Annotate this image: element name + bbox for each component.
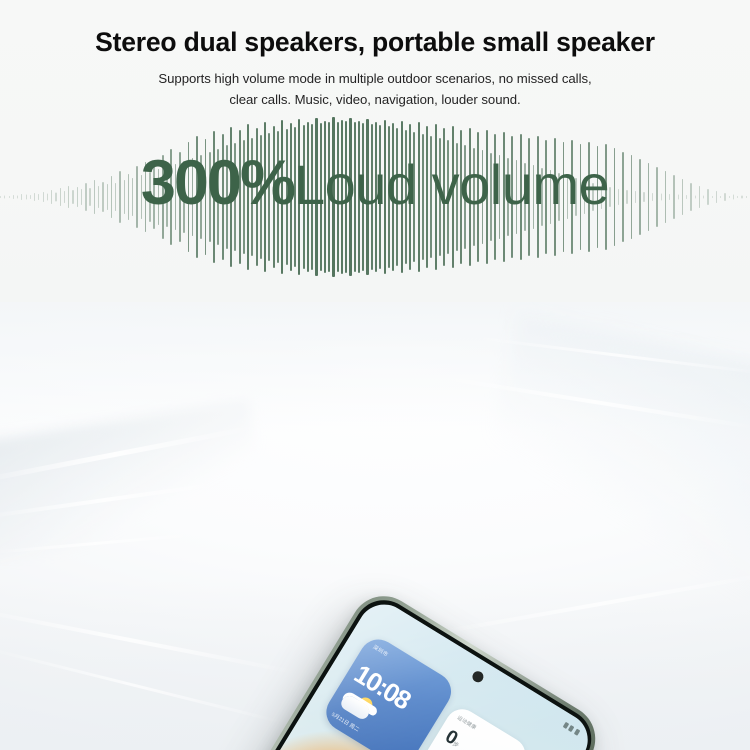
loud-volume-headline: 300%Loud volume xyxy=(0,152,750,215)
health-widget-title: 运动健康 xyxy=(456,714,478,731)
status-bar xyxy=(563,721,581,735)
backdrop-streak-4 xyxy=(0,606,297,675)
backdrop-streak-7 xyxy=(471,336,750,376)
backdrop-streak-1 xyxy=(0,424,258,484)
backdrop-streak-8 xyxy=(422,571,750,637)
audio-subline-1: Supports high volume mode in multiple ou… xyxy=(0,69,750,89)
battery-icon xyxy=(574,728,581,735)
backdrop-shade-top xyxy=(0,302,750,432)
wifi-icon xyxy=(568,725,575,732)
backdrop-streak-6 xyxy=(432,374,750,430)
health-steps-value: 0步 xyxy=(441,726,465,750)
backdrop-shade-left xyxy=(0,399,268,564)
phone-frame: 深圳市 10:08 5月21日 周二 运动健康 0步 0 千卡 0 分钟 xyxy=(154,583,608,750)
phone-bezel: 深圳市 10:08 5月21日 周二 运动健康 0步 0 千卡 0 分钟 xyxy=(160,589,603,750)
backdrop-shade-right xyxy=(469,311,750,612)
ram-feature-section: 深圳市 10:08 5月21日 周二 运动健康 0步 0 千卡 0 分钟 xyxy=(0,302,750,750)
backdrop-streak-3 xyxy=(0,533,200,554)
phone-device-render: 深圳市 10:08 5月21日 周二 运动健康 0步 0 千卡 0 分钟 xyxy=(148,583,654,750)
audio-feature-section: 300%Loud volume Stereo dual speakers, po… xyxy=(0,0,750,302)
backdrop-streak-5 xyxy=(0,647,286,725)
page-title: Stereo dual speakers, portable small spe… xyxy=(0,28,750,57)
backdrop-streak-2 xyxy=(0,481,229,520)
front-camera-punchhole-icon xyxy=(470,668,485,683)
audio-subline-2: clear calls. Music, video, navigation, l… xyxy=(0,90,750,110)
product-feature-page: 300%Loud volume Stereo dual speakers, po… xyxy=(0,0,750,750)
phone-screen: 深圳市 10:08 5月21日 周二 运动健康 0步 0 千卡 0 分钟 xyxy=(165,594,598,750)
volume-percent-value: 300% xyxy=(141,148,294,218)
weather-city-label: 深圳市 xyxy=(372,642,391,658)
volume-label-text: Loud volume xyxy=(294,153,609,216)
audio-section-header: Stereo dual speakers, portable small spe… xyxy=(0,0,750,110)
